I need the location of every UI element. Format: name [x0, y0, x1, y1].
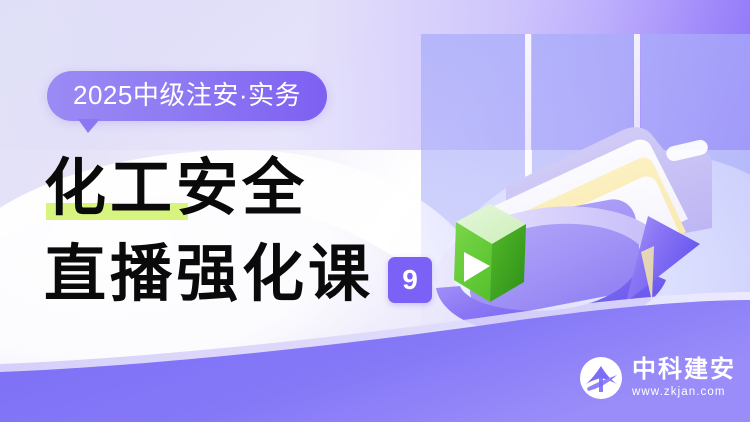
- brand-logo: 中科建安 www.zkjan.com: [579, 356, 736, 400]
- headline-line-1: 化工安全: [44, 154, 308, 224]
- headline-row-1: 化工安全: [44, 148, 464, 224]
- brand-url: www.zkjan.com: [632, 387, 736, 399]
- headline-row-2: 直播强化课 9: [44, 234, 464, 310]
- headline-line-2: 直播强化课: [44, 240, 374, 310]
- brand-emblem-icon: [579, 356, 623, 400]
- badge-label: 2025中级注安·实务: [47, 71, 327, 121]
- headline-block: 化工安全 直播强化课 9: [44, 148, 464, 310]
- badge-tail: [78, 119, 100, 133]
- brand-text: 中科建安 www.zkjan.com: [632, 358, 736, 399]
- course-promo-banner: 2025中级注安·实务 化工安全 直播强化课 9 中科建安 www.zkjan.…: [0, 0, 750, 422]
- course-category-badge: 2025中级注安·实务: [47, 71, 327, 121]
- brand-name: 中科建安: [632, 356, 736, 383]
- episode-number-badge: 9: [388, 257, 432, 303]
